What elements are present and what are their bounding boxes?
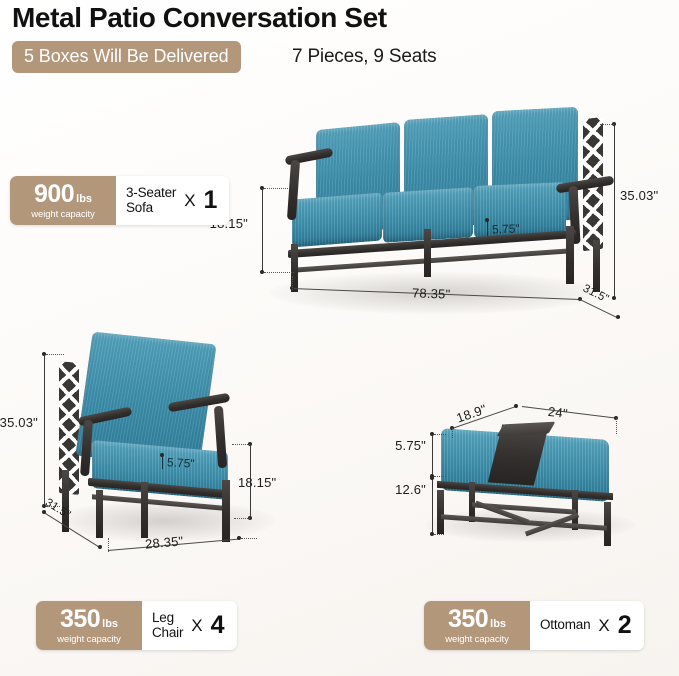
sofa-seat-height-rule [262, 188, 263, 272]
capacity-badge-sofa-weight: 900 lbs weight capacity [10, 176, 116, 225]
chair-leg-front-right [222, 480, 230, 542]
ottoman-leg-front-left [437, 490, 444, 534]
capacity-badge-ottoman-number: 350 [448, 607, 488, 632]
ottoman-height-rule [432, 478, 433, 534]
capacity-badge-ottoman-item-line1: Ottoman [540, 618, 590, 633]
chair-seat-height-label: 18.15" [238, 475, 276, 490]
sofa-overall-height-rule [614, 124, 615, 298]
ottoman-height-tick-top [430, 476, 434, 480]
capacity-badge-sofa-unit: lbs [76, 193, 92, 205]
chair-width-leader-left [108, 538, 109, 552]
ottoman-width-label: 24" [547, 404, 568, 421]
capacity-badge-chair-item-line1: Leg [152, 611, 183, 626]
sofa-overall-height-label: 35.03" [620, 188, 658, 203]
page-title: Metal Patio Conversation Set [12, 2, 387, 34]
chair-cushion-rule [162, 455, 163, 469]
chair-depth-tick-bottom [98, 545, 102, 549]
capacity-badge-chair-item-name: Leg Chair [152, 611, 183, 640]
capacity-badge-ottoman-multiplier: X [598, 616, 609, 636]
capacity-badge-chair-multiplier: X [191, 616, 202, 636]
ottoman-cushion-leader-top [434, 434, 446, 435]
capacity-badge-chair: 350 lbs weight capacity Leg Chair X 4 [36, 601, 237, 650]
pieces-seats-label: 7 Pieces, 9 Seats [292, 46, 436, 68]
capacity-badge-sofa-item-line2: Sofa [126, 201, 176, 216]
chair-leg-front-left [96, 490, 103, 538]
capacity-badge-sofa-multiplier: X [184, 191, 195, 211]
capacity-badge-chair-item-line2: Chair [152, 626, 183, 641]
capacity-badge-ottoman-weight: 350 lbs weight capacity [424, 601, 530, 650]
capacity-badge-ottoman: 350 lbs weight capacity Ottoman X 2 [424, 601, 644, 650]
sofa-cushion-thickness-label: 5.75" [492, 222, 520, 237]
sofa-seat-height-leader-bottom [264, 272, 294, 273]
chair-overall-height-rule [44, 354, 45, 506]
capacity-badge-chair-weight: 350 lbs weight capacity [36, 601, 142, 650]
sofa-leg-front-right [566, 226, 574, 284]
sofa-seat-height-leader-top [264, 188, 290, 189]
capacity-badge-ottoman-item-name: Ottoman [540, 618, 590, 633]
ottoman-cushion-rule [432, 434, 433, 476]
ottoman-width-leader [616, 418, 617, 434]
ottoman-tray-top [497, 422, 556, 437]
chair-leg-center [141, 482, 148, 538]
capacity-badge-sofa-item: 3-Seater Sofa X 1 [116, 176, 229, 225]
capacity-badge-chair-number: 350 [60, 607, 100, 632]
sofa-width-label: 78.35" [412, 285, 451, 301]
boxes-delivered-badge: 5 Boxes Will Be Delivered [12, 41, 241, 73]
sofa-overall-height-leader-top [600, 124, 614, 125]
chair-cushion-thickness-label: 5.75" [167, 455, 195, 470]
chair-overall-height-label: 35.03" [0, 415, 38, 430]
chair-seat-height-leader-top [232, 444, 250, 445]
sofa-cushion-rule [487, 220, 488, 236]
sofa-seat-cushion-left [292, 192, 382, 247]
ottoman-cushion-thickness-label: 5.75" [395, 438, 426, 453]
chair-width-leader-right [241, 538, 257, 539]
ottoman-depth-tick-right [514, 404, 518, 408]
chair-depth-tick-top [42, 510, 46, 514]
chair-overall-height-leader-top [46, 354, 64, 355]
sofa-leg-rear-right [593, 240, 600, 292]
capacity-badge-sofa-item-line1: 3-Seater [126, 186, 176, 201]
capacity-badge-sofa-caption: weight capacity [31, 209, 94, 220]
chair-width-label: 28.35" [144, 533, 184, 551]
ottoman-height-label: 12.6" [395, 482, 426, 497]
ottoman-cushion-leader-bottom [434, 476, 446, 477]
capacity-badge-ottoman-caption: weight capacity [445, 634, 508, 645]
sofa-width-leader-left [292, 276, 293, 290]
ottoman-width-rule [522, 406, 617, 419]
capacity-badge-chair-caption: weight capacity [57, 634, 120, 645]
capacity-badge-chair-count: 4 [211, 613, 225, 638]
capacity-badge-ottoman-count: 2 [618, 613, 632, 638]
capacity-badge-chair-item: Leg Chair X 4 [142, 601, 237, 650]
capacity-badge-ottoman-unit: lbs [490, 618, 506, 630]
capacity-badge-sofa-item-name: 3-Seater Sofa [126, 186, 176, 215]
sofa-depth-tick [616, 315, 620, 319]
capacity-badge-sofa: 900 lbs weight capacity 3-Seater Sofa X … [10, 176, 229, 225]
capacity-badge-chair-unit: lbs [102, 618, 118, 630]
sofa-overall-height-tick-bottom [612, 296, 616, 300]
ottoman-height-leader-bottom [434, 534, 444, 535]
capacity-badge-ottoman-item: Ottoman X 2 [530, 601, 644, 650]
ottoman-leg-front-right [604, 502, 611, 546]
chair-seat-height-leader-bottom [234, 518, 250, 519]
capacity-badge-sofa-number: 900 [34, 182, 74, 207]
ottoman-depth-leader [452, 428, 453, 438]
chair-leg-rear-left [62, 470, 69, 532]
capacity-badge-sofa-count: 1 [204, 188, 218, 213]
sofa-leg-center [424, 229, 431, 277]
